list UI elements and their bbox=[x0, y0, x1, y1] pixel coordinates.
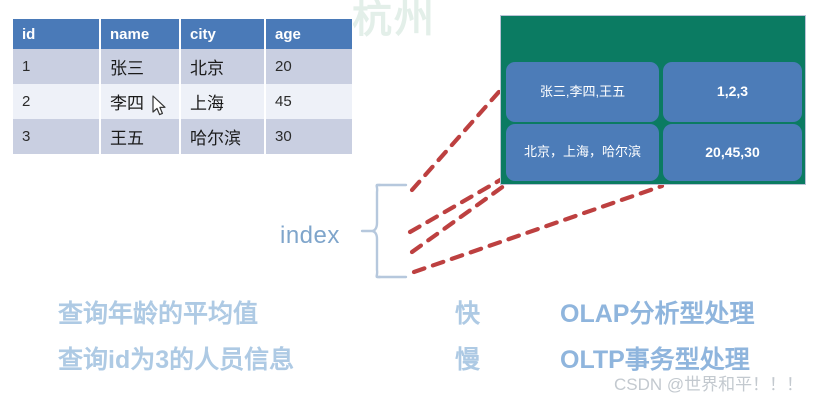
connector-line-3 bbox=[412, 183, 508, 252]
cell-age: 30 bbox=[265, 119, 352, 154]
column-header-city: city bbox=[180, 19, 265, 49]
column-header-name: name bbox=[100, 19, 180, 49]
cell-age: 20 bbox=[265, 49, 352, 84]
table-row: 1 张三 北京 20 bbox=[13, 49, 352, 84]
index-structure-panel: 张三,李四,王五 1,2,3 北京，上海，哈尔滨 20,45,30 bbox=[500, 15, 806, 185]
connector-line-1 bbox=[412, 85, 505, 190]
cell-id: 1 bbox=[13, 49, 100, 84]
comparison-row: 查询id为3的人员信息 慢 OLTP事务型处理 bbox=[0, 340, 838, 384]
source-data-table: id name city age 1 张三 北京 20 2 李四 上海 45 3… bbox=[13, 19, 352, 154]
comparison-query: 查询年龄的平均值 bbox=[58, 294, 258, 330]
cell-city: 上海 bbox=[180, 84, 265, 119]
column-header-id: id bbox=[13, 19, 100, 49]
comparison-speed: 慢 bbox=[455, 340, 480, 376]
connector-line-4 bbox=[414, 186, 662, 272]
slide-canvas: 杭州 id name city age 1 张三 北京 20 2 李四 上海 bbox=[0, 0, 838, 403]
cell-name: 张三 bbox=[100, 49, 180, 84]
comparison-query: 查询id为3的人员信息 bbox=[58, 340, 294, 376]
comparison-speed: 快 bbox=[455, 294, 480, 330]
cell-age: 45 bbox=[265, 84, 352, 119]
index-cell-names: 张三,李四,王五 bbox=[506, 62, 659, 122]
cell-name: 李四 bbox=[100, 84, 180, 119]
index-label: index bbox=[280, 222, 340, 250]
comparison-row: 查询年龄的平均值 快 OLAP分析型处理 bbox=[0, 294, 838, 338]
index-cell-cities: 北京，上海，哈尔滨 bbox=[506, 124, 659, 181]
cell-city: 北京 bbox=[180, 49, 265, 84]
comparison-type: OLAP分析型处理 bbox=[560, 294, 754, 330]
index-cell-ages: 20,45,30 bbox=[663, 124, 802, 181]
table-row: 3 王五 哈尔滨 30 bbox=[13, 119, 352, 154]
index-cell-ids: 1,2,3 bbox=[663, 62, 802, 122]
comparison-area: 查询年龄的平均值 快 OLAP分析型处理 查询id为3的人员信息 慢 OLTP事… bbox=[0, 292, 838, 392]
cell-name: 王五 bbox=[100, 119, 180, 154]
cell-city: 哈尔滨 bbox=[180, 119, 265, 154]
curly-brace-icon bbox=[360, 181, 412, 281]
table-row: 2 李四 上海 45 bbox=[13, 84, 352, 119]
table-header-row: id name city age bbox=[13, 19, 352, 49]
column-header-age: age bbox=[265, 19, 352, 49]
comparison-type: OLTP事务型处理 bbox=[560, 340, 750, 376]
cell-id: 3 bbox=[13, 119, 100, 154]
cell-id: 2 bbox=[13, 84, 100, 119]
